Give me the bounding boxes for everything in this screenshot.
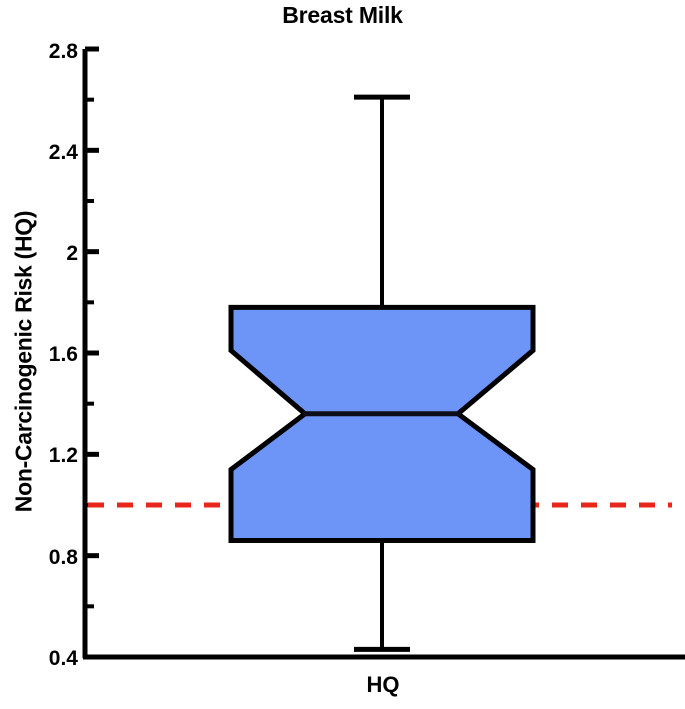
chart-container: Breast Milk Non-Carcinogenic Risk (HQ) 2… bbox=[0, 0, 685, 709]
box-notched-shape bbox=[231, 307, 533, 540]
x-axis-title: HQ bbox=[232, 672, 534, 698]
plot-area bbox=[0, 0, 685, 709]
